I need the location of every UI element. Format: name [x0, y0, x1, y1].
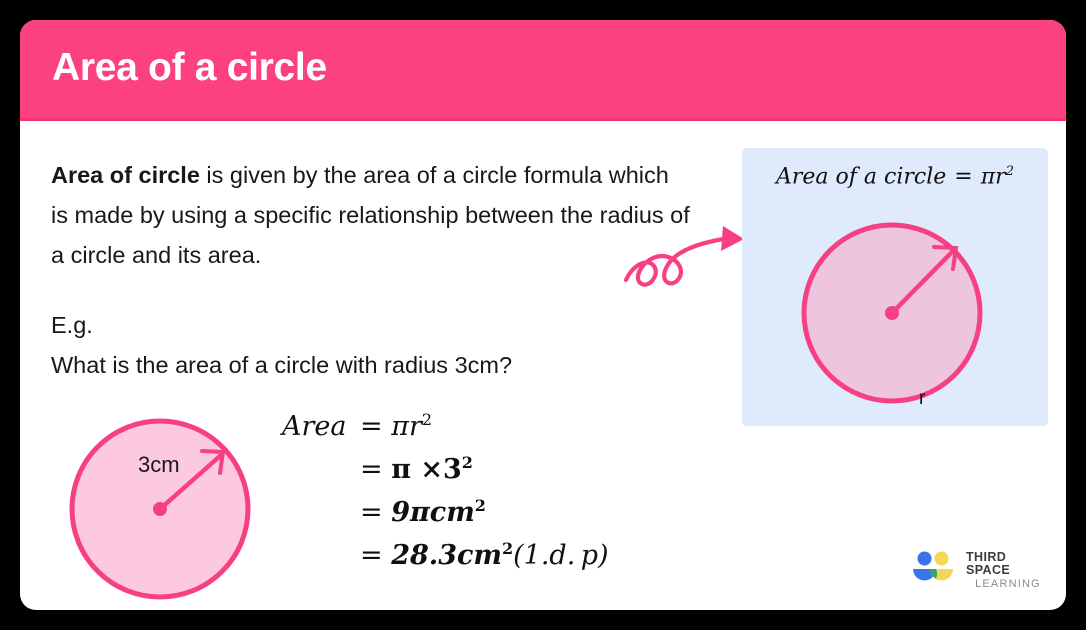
area-formula-text: Area of a circle=πr2	[742, 164, 1048, 189]
radius-label-3cm: 3cm	[138, 452, 180, 478]
logo-wordmark: THIRD SPACE LEARNING	[966, 551, 1050, 590]
logo-line-secondary: LEARNING	[966, 579, 1050, 590]
slide-header: Area of a circle	[20, 20, 1066, 121]
working-rhs: π ×3	[391, 454, 462, 485]
working-equals: =	[360, 454, 383, 485]
lesson-body: Area of circle is given by the area of a…	[51, 155, 691, 275]
working-rhs: 9πcm	[391, 497, 475, 528]
formula-lhs: Area of a circle	[776, 164, 946, 189]
working-exponent: 2	[462, 453, 473, 472]
intro-bold-term: Area of circle	[51, 162, 200, 188]
working-rhs: πr	[391, 411, 422, 442]
working-exponent: 2	[502, 539, 513, 558]
working-equals: =	[360, 540, 383, 571]
working-exponent: 2	[475, 496, 486, 515]
third-space-learning-logo-icon	[910, 550, 958, 584]
slide-card: Area of a circle Area of circle is given…	[20, 20, 1066, 610]
formula-equals: =	[954, 164, 972, 189]
circle-diagram-radius-3cm	[64, 416, 260, 606]
formula-callout-card: Area of a circle=πr2 r	[742, 148, 1048, 426]
working-row: = 28.3cm2(1.d. p)	[282, 539, 609, 582]
example-question: What is the area of a circle with radius…	[51, 345, 512, 385]
intro-paragraph: Area of circle is given by the area of a…	[51, 155, 691, 275]
header-underline	[20, 118, 1066, 121]
working-row: = 9πcm2	[282, 496, 609, 539]
radius-label-r: r	[919, 388, 925, 410]
working-rhs: 28.3cm	[391, 540, 502, 571]
working-row: Area= πr2	[282, 410, 609, 453]
logo-line-primary: THIRD SPACE	[966, 551, 1050, 576]
working-row: = π ×32	[282, 453, 609, 496]
circle-diagram-radius-r	[776, 216, 1014, 412]
curly-arrow-icon	[620, 220, 750, 295]
example-label: E.g.	[51, 305, 93, 345]
working-exponent: 2	[422, 410, 432, 429]
working-equals: =	[360, 411, 383, 442]
brand-logo: THIRD SPACE LEARNING	[910, 548, 1050, 588]
page-title: Area of a circle	[52, 46, 327, 90]
math-working-block: Area= πr2 = π ×32 = 9πcm2 = 28.3cm2(1.d.…	[282, 410, 609, 582]
working-equals: =	[360, 497, 383, 528]
working-lhs: Area	[282, 411, 360, 442]
formula-exponent: 2	[1006, 164, 1014, 179]
formula-rhs: πr	[981, 164, 1006, 189]
working-tail: (1.d. p)	[513, 540, 608, 571]
